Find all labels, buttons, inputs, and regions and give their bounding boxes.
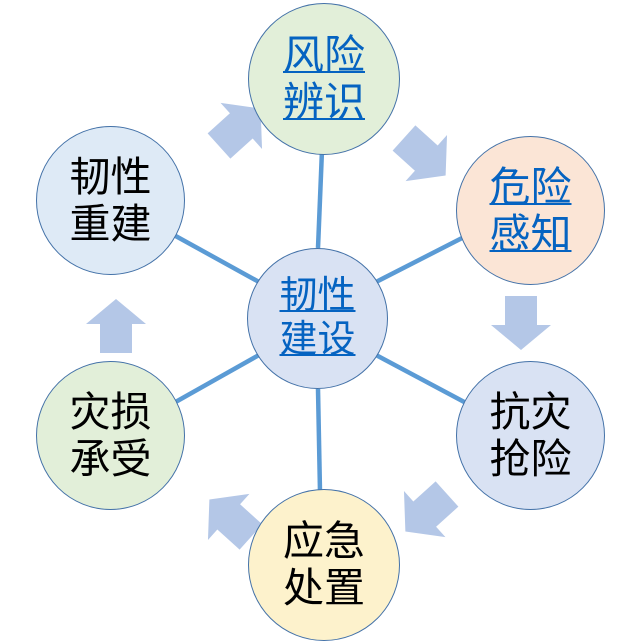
node-center-line-2: 建设 [279,319,355,362]
node-risk-identification[interactable]: 风险 辨识 [248,3,400,155]
node-upper-right-line-2: 感知 [490,211,572,258]
arrow-risk-identification-to-hazard-perception [383,115,466,199]
node-hazard-perception[interactable]: 危险 感知 [456,136,605,285]
node-resilience-reconstruction[interactable]: 韧性 重建 [36,126,185,275]
node-disaster-resistance-rescue[interactable]: 抗灾 抢险 [456,361,605,510]
arrow-disaster-resistance-to-emergency-response [385,471,468,555]
node-lower-left-line-1: 灾损 [70,389,152,436]
arrow-hazard-perception-to-disaster-resistance [491,296,551,350]
resilience-cycle-diagram: 韧性 建设 风险 辨识 危险 感知 抗灾 抢险 应急 处置 灾损 承受 韧性 重… [0,0,621,644]
node-lower-right-line-2: 抢险 [490,436,572,483]
node-upper-left-line-1: 韧性 [70,154,152,201]
node-lower-left-line-2: 承受 [70,436,152,483]
node-disaster-loss-tolerance[interactable]: 灾损 承受 [36,361,185,510]
node-lower-right-line-1: 抗灾 [490,389,572,436]
node-emergency-response[interactable]: 应急 处置 [248,489,400,641]
node-upper-right-line-1: 危险 [490,164,572,211]
node-top-line-1: 风险 [283,32,365,79]
node-center-line-1: 韧性 [279,275,355,318]
node-resilience-construction[interactable]: 韧性 建设 [247,248,388,389]
arrow-loss-tolerance-to-reconstruction [86,299,146,353]
node-bottom-line-1: 应急 [283,518,365,565]
node-upper-left-line-2: 重建 [70,201,152,248]
node-bottom-line-2: 处置 [283,565,365,612]
node-top-line-2: 辨识 [283,79,365,126]
